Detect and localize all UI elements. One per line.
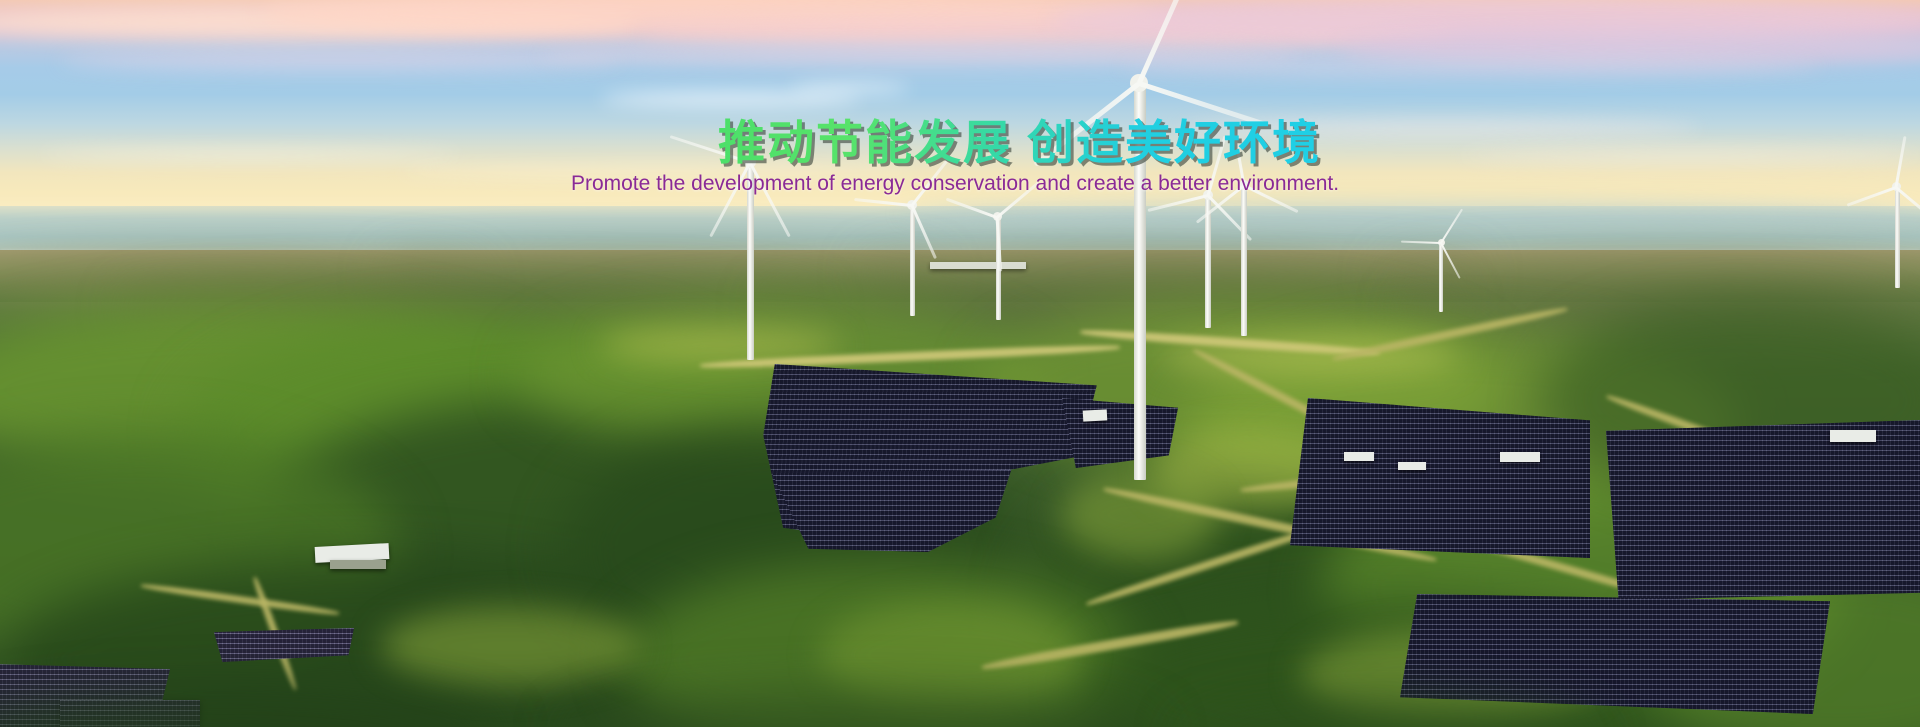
- turbine-tower: [1241, 186, 1247, 336]
- wind-turbine: [1852, 178, 1920, 288]
- solar-array-right-c: [1400, 594, 1830, 714]
- turbine-tower: [1895, 186, 1900, 288]
- wind-turbine: [862, 196, 962, 316]
- turbine-tower: [1439, 242, 1443, 312]
- utility-building: [1398, 462, 1426, 470]
- utility-building: [1344, 452, 1374, 461]
- turbine-blade: [854, 198, 912, 207]
- utility-building: [1830, 430, 1876, 442]
- subtitle-english: Promote the development of energy conser…: [540, 172, 1370, 196]
- grass-highlight: [1060, 470, 1220, 560]
- utility-building: [1500, 452, 1540, 462]
- headline-chinese: 推动节能发展 创造美好环境: [718, 118, 1321, 167]
- solar-array-right-a: [1290, 398, 1590, 558]
- solar-array-right-b: [1606, 420, 1920, 600]
- turbine-tower: [910, 204, 915, 316]
- turbine-blade: [911, 205, 937, 259]
- turbine-blade: [1401, 241, 1441, 244]
- grass-highlight: [380, 606, 640, 686]
- utility-building: [330, 560, 386, 569]
- hero-banner: 推动节能发展 创造美好环境 Promote the development of…: [0, 0, 1920, 727]
- wind-turbine: [1406, 236, 1476, 312]
- turbine-blade: [1847, 186, 1897, 207]
- wind-turbine: [1196, 176, 1292, 336]
- wind-turbine: [952, 208, 1044, 320]
- turbine-blade: [1440, 243, 1461, 279]
